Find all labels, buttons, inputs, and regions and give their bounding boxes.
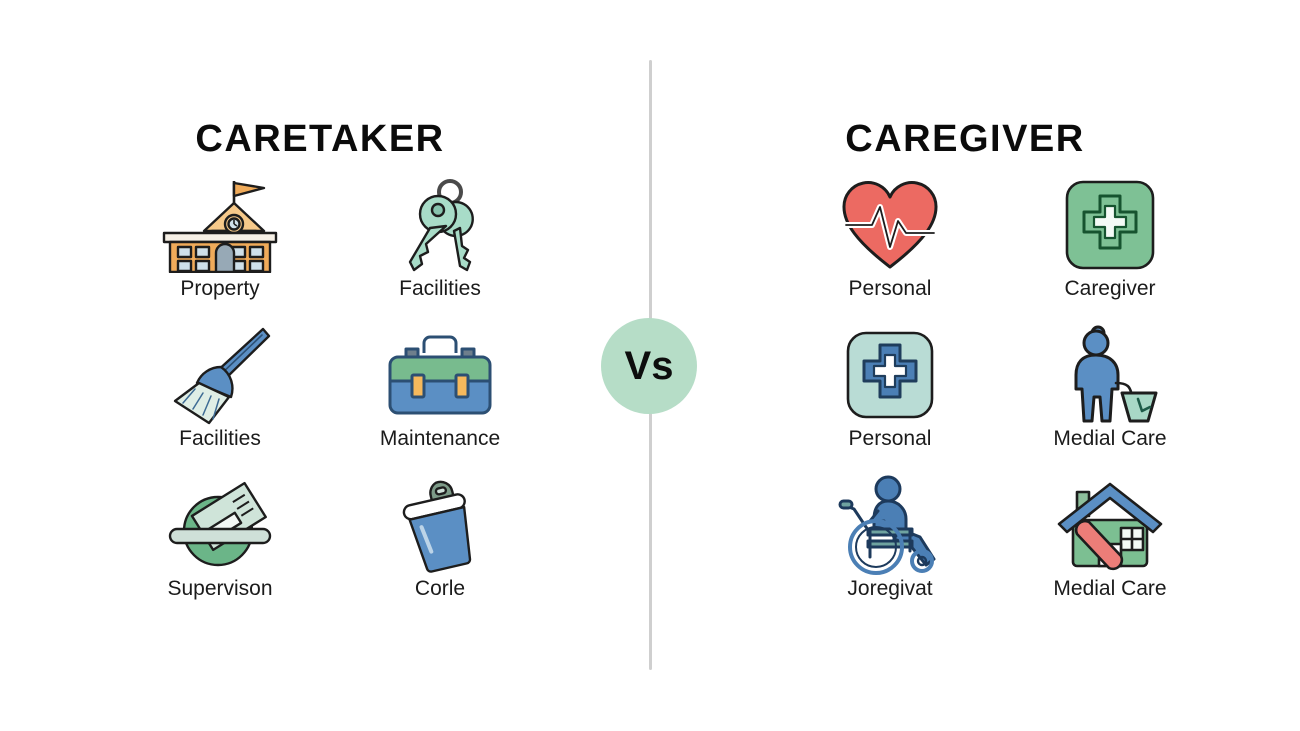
item-medical-care-patient: Medial Care — [1005, 325, 1215, 475]
item-personal-cross: Personal — [785, 325, 995, 475]
item-label: Supervison — [167, 577, 272, 601]
item-label: Maintenance — [380, 427, 500, 451]
item-corle: Corle — [335, 475, 545, 625]
caregiver-items-grid: Personal Caregiver — [785, 175, 1215, 625]
item-label: Medial Care — [1053, 577, 1166, 601]
trash-bin-icon — [390, 475, 490, 575]
item-facilities-broom: Facilities — [115, 325, 325, 475]
comparison-infographic: Vs CARETAKER — [0, 0, 1300, 731]
caretaker-column: CARETAKER — [20, 0, 640, 731]
house-care-icon — [1055, 475, 1165, 575]
green-medical-cross-icon — [1063, 175, 1157, 275]
patient-with-iv-bag-icon — [1060, 325, 1160, 425]
item-label: Medial Care — [1053, 427, 1166, 451]
caregiver-title: CAREGIVER — [655, 118, 1275, 161]
item-label: Personal — [849, 277, 932, 301]
item-label: Corle — [415, 577, 465, 601]
item-label: Joregivat — [847, 577, 932, 601]
school-building-icon — [154, 175, 286, 275]
item-supervision: Supervison — [115, 475, 325, 625]
item-house-care: Medial Care — [1005, 475, 1215, 625]
item-property: Property — [115, 175, 325, 325]
keys-icon — [394, 175, 486, 275]
broom-icon — [165, 325, 275, 425]
briefcase-icon — [384, 325, 496, 425]
item-wheelchair: Joregivat — [785, 475, 995, 625]
item-label: Facilities — [399, 277, 481, 301]
caregiver-column: CAREGIVER Personal — [665, 0, 1285, 731]
wheelchair-icon — [838, 475, 942, 575]
item-personal-heart: Personal — [785, 175, 995, 325]
blue-medical-cross-icon — [844, 325, 936, 425]
item-label: Personal — [849, 427, 932, 451]
item-maintenance: Maintenance — [335, 325, 545, 475]
vs-badge: Vs — [601, 318, 697, 414]
item-label: Property — [180, 277, 259, 301]
caretaker-items-grid: Property — [115, 175, 545, 625]
item-caregiver-cross: Caregiver — [1005, 175, 1215, 325]
item-label: Caregiver — [1064, 277, 1155, 301]
caretaker-title: CARETAKER — [10, 118, 630, 161]
supervision-badge-icon — [162, 475, 278, 575]
item-label: Facilities — [179, 427, 261, 451]
item-facilities-keys: Facilities — [335, 175, 545, 325]
vs-label: Vs — [625, 346, 674, 386]
heartbeat-icon — [838, 175, 942, 275]
